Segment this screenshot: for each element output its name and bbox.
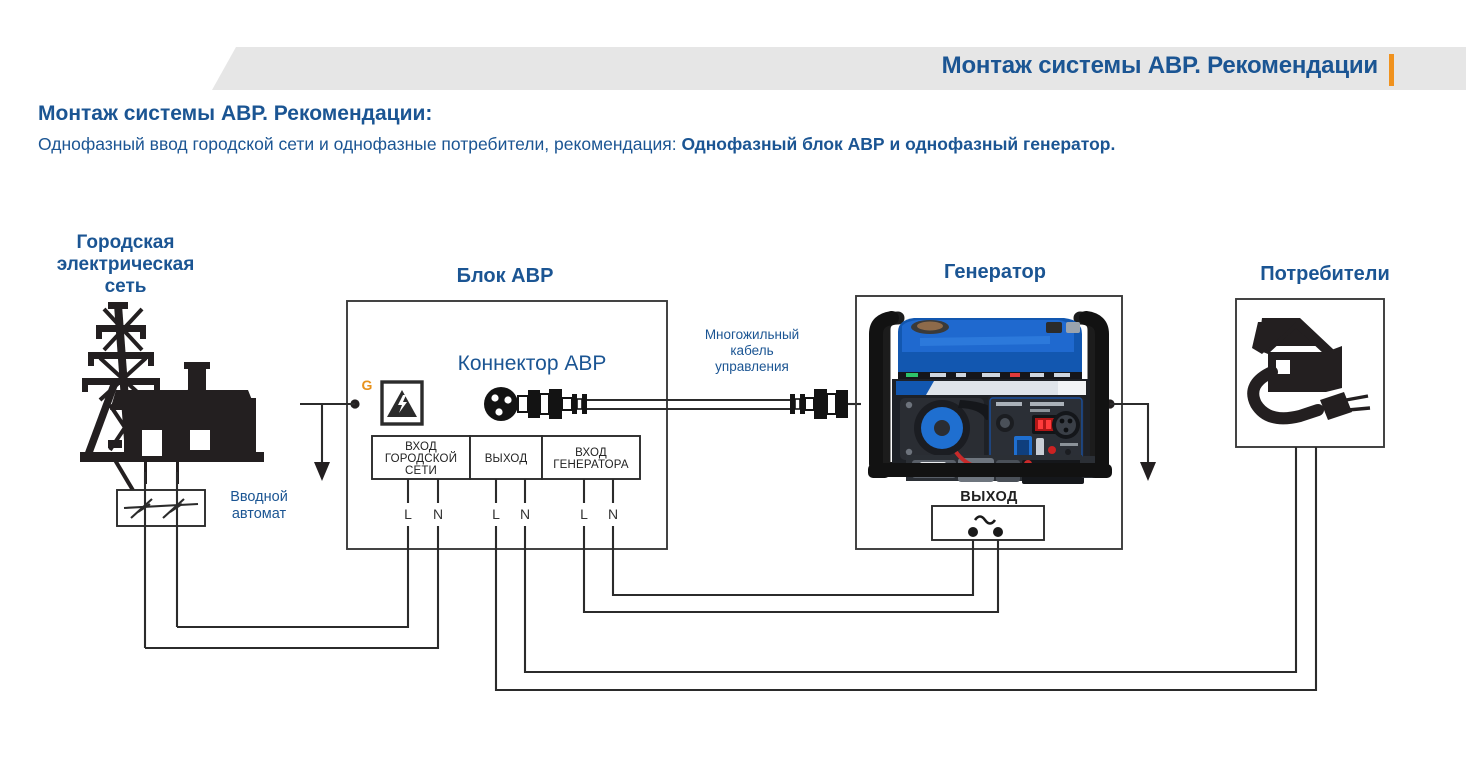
generator-output-socket[interactable] — [932, 506, 1044, 540]
wire-breaker-to-ats-mains — [145, 526, 438, 648]
ats-terminal-blocks: ВХОД ГОРОДСКОЙ СЕТИ ВЫХОД ВХОД ГЕНЕРАТОР… — [372, 436, 640, 479]
terminal-gen-line2: ГЕНЕРАТОРА — [553, 459, 629, 471]
portable-generator-photo — [868, 318, 1112, 484]
ats-terminal-pins — [408, 479, 613, 503]
pole-label-gen-l: L — [580, 506, 588, 522]
control-cable — [587, 400, 790, 409]
pole-label-output-l: L — [492, 506, 500, 522]
generator-output-label: ВЫХОД — [960, 489, 1018, 505]
terminal-gen-line1: ВХОД — [575, 447, 607, 459]
generator-control-plug-icon — [790, 389, 861, 419]
pole-label-gen-n: N — [608, 506, 618, 522]
slide-canvas: Монтаж системы АВР. Рекомендации Монтаж … — [0, 0, 1466, 780]
ground-label-g: G — [362, 377, 373, 393]
house-with-plug-icon — [1252, 318, 1370, 420]
pole-labels: L N L N L N — [404, 506, 618, 522]
wiring-diagram: G — [0, 0, 1466, 780]
terminal-mains-line1: ВХОД — [405, 441, 437, 453]
terminal-output-line1: ВЫХОД — [485, 453, 528, 465]
main-breaker-symbol — [117, 490, 205, 526]
pole-label-output-n: N — [520, 506, 530, 522]
power-pylon-house-icon — [80, 302, 264, 492]
terminal-mains-line2: ГОРОДСКОЙ — [385, 452, 457, 465]
high-voltage-warning-icon — [382, 382, 422, 424]
round-3pin-connector-icon — [484, 387, 587, 421]
pole-label-mains-n: N — [433, 506, 443, 522]
pole-label-mains-l: L — [404, 506, 412, 522]
generator-ground-connection — [1105, 399, 1156, 481]
terminal-mains-line3: СЕТИ — [405, 465, 437, 477]
wire-ats-output-to-consumers — [496, 447, 1316, 690]
ats-ground-connection — [300, 399, 360, 481]
